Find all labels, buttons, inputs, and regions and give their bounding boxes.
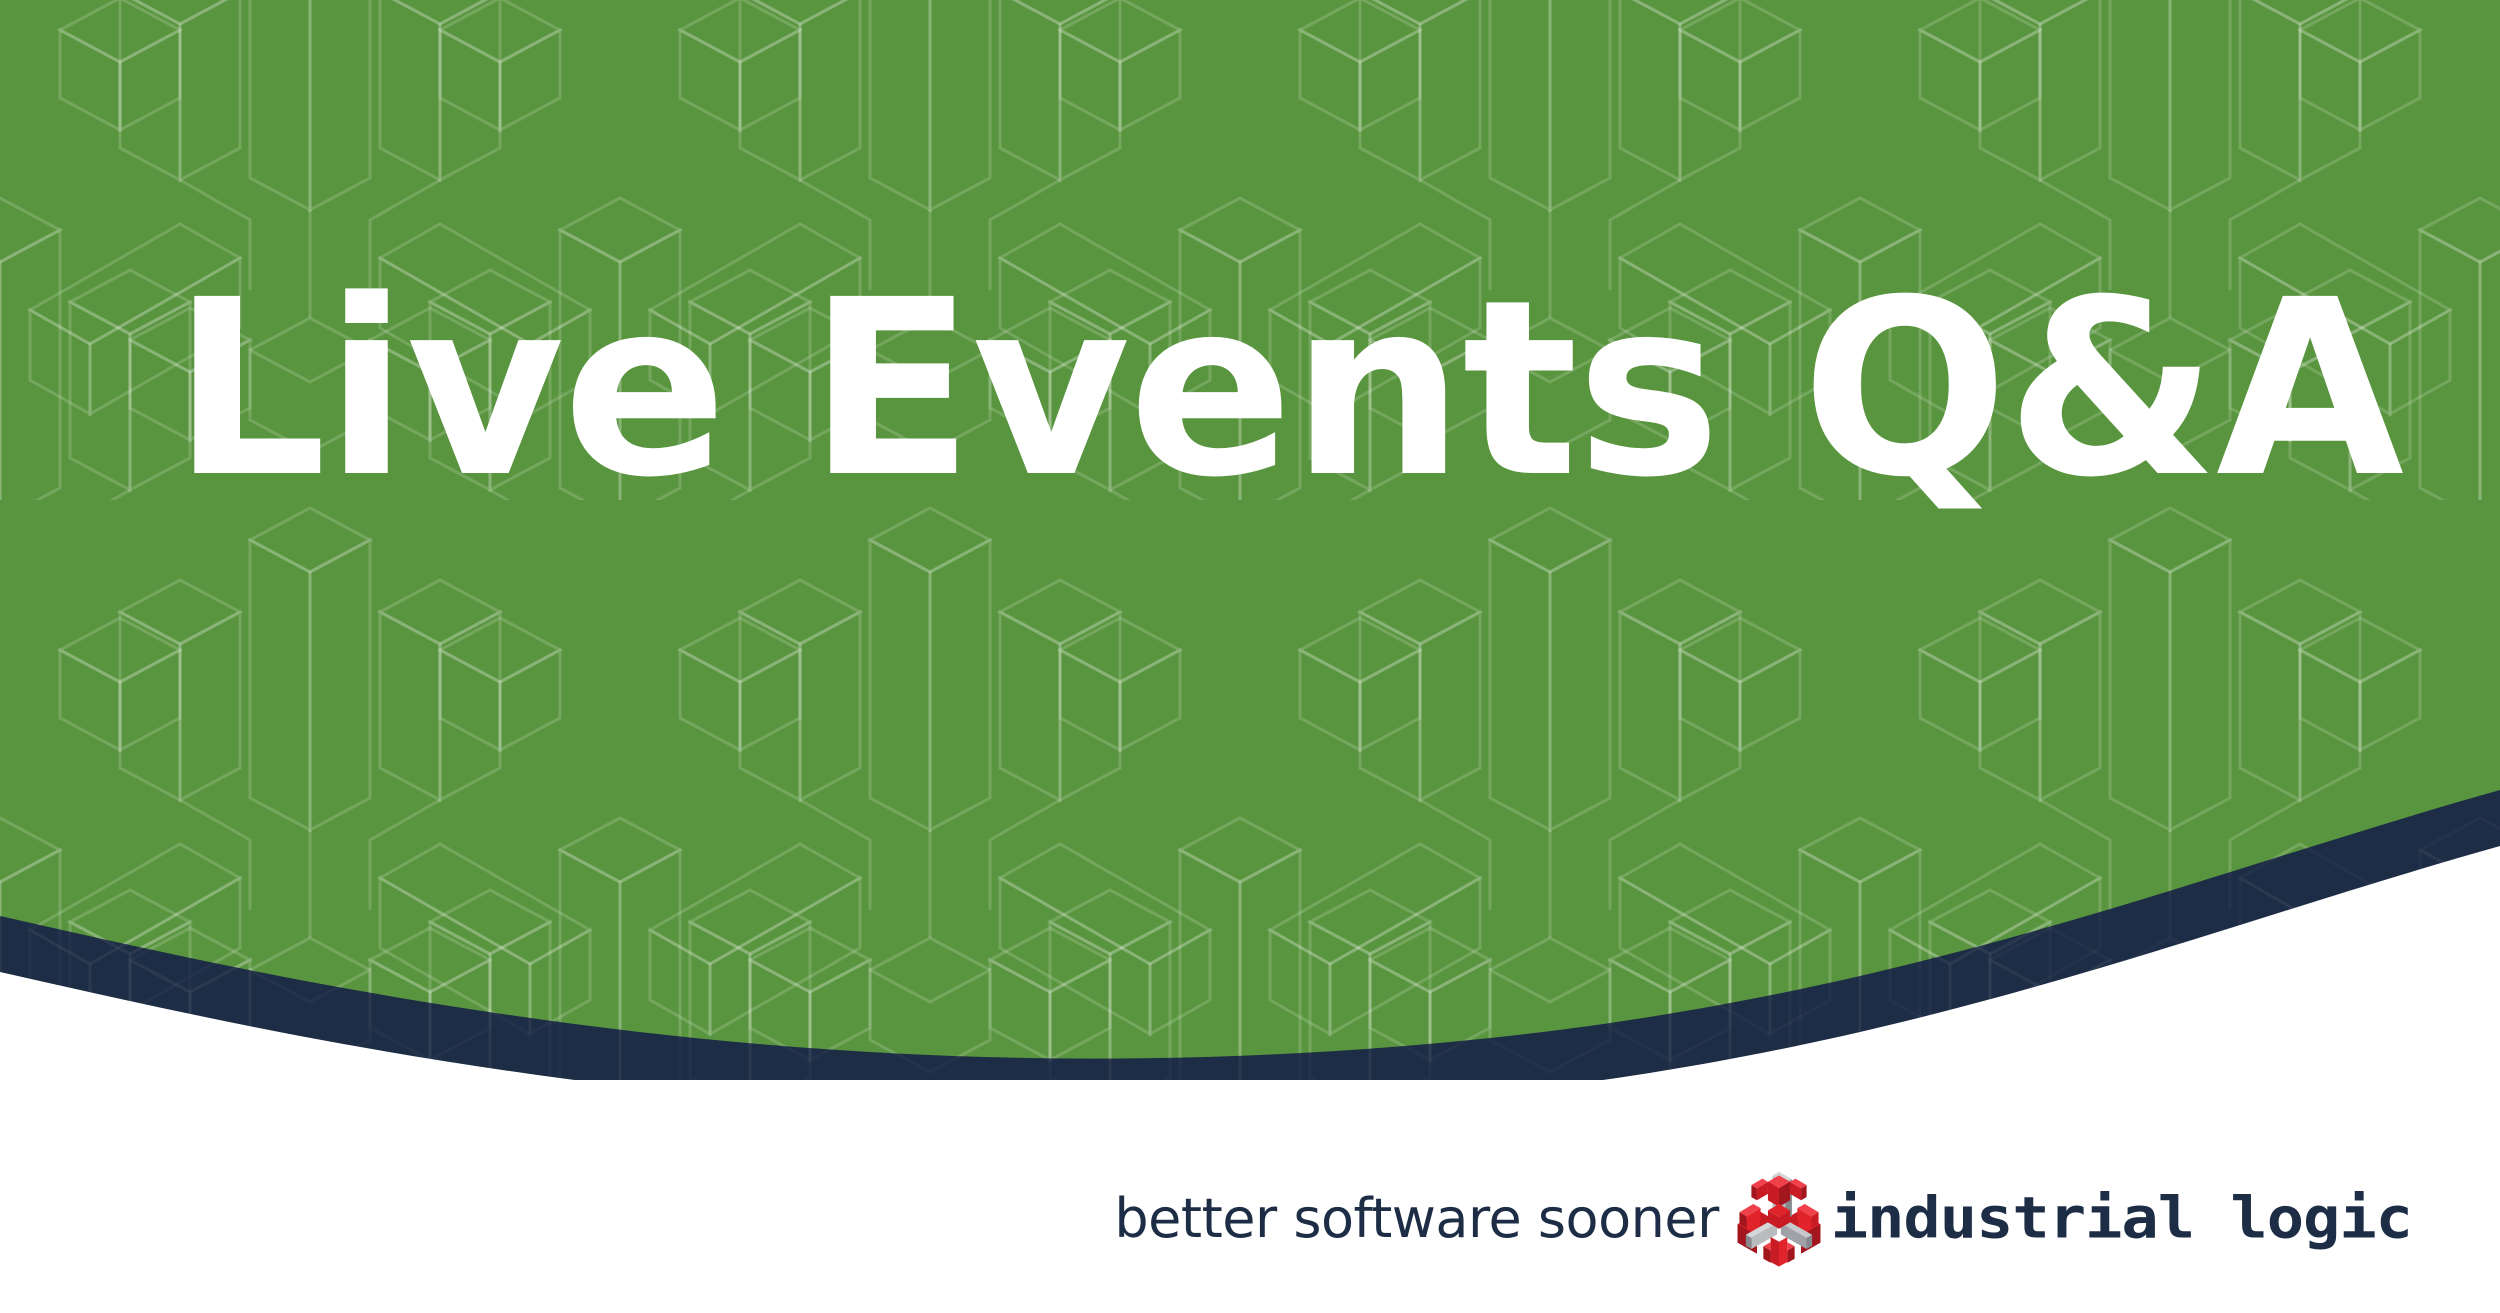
hero-background-graphic [0,0,2500,1080]
wordmark-text: industrial logic [1831,1190,2412,1253]
tagline-text: better software sooner [1114,1192,1718,1250]
slide-canvas: Live Events Q&A better software sooner [0,0,2500,1313]
industrial-logic-star-mark-icon [1733,1167,1825,1275]
slide-title: Live Events Q&A [172,268,2402,511]
hero-band [0,0,2500,1080]
brand-lockup: better software sooner [1114,1167,2412,1275]
